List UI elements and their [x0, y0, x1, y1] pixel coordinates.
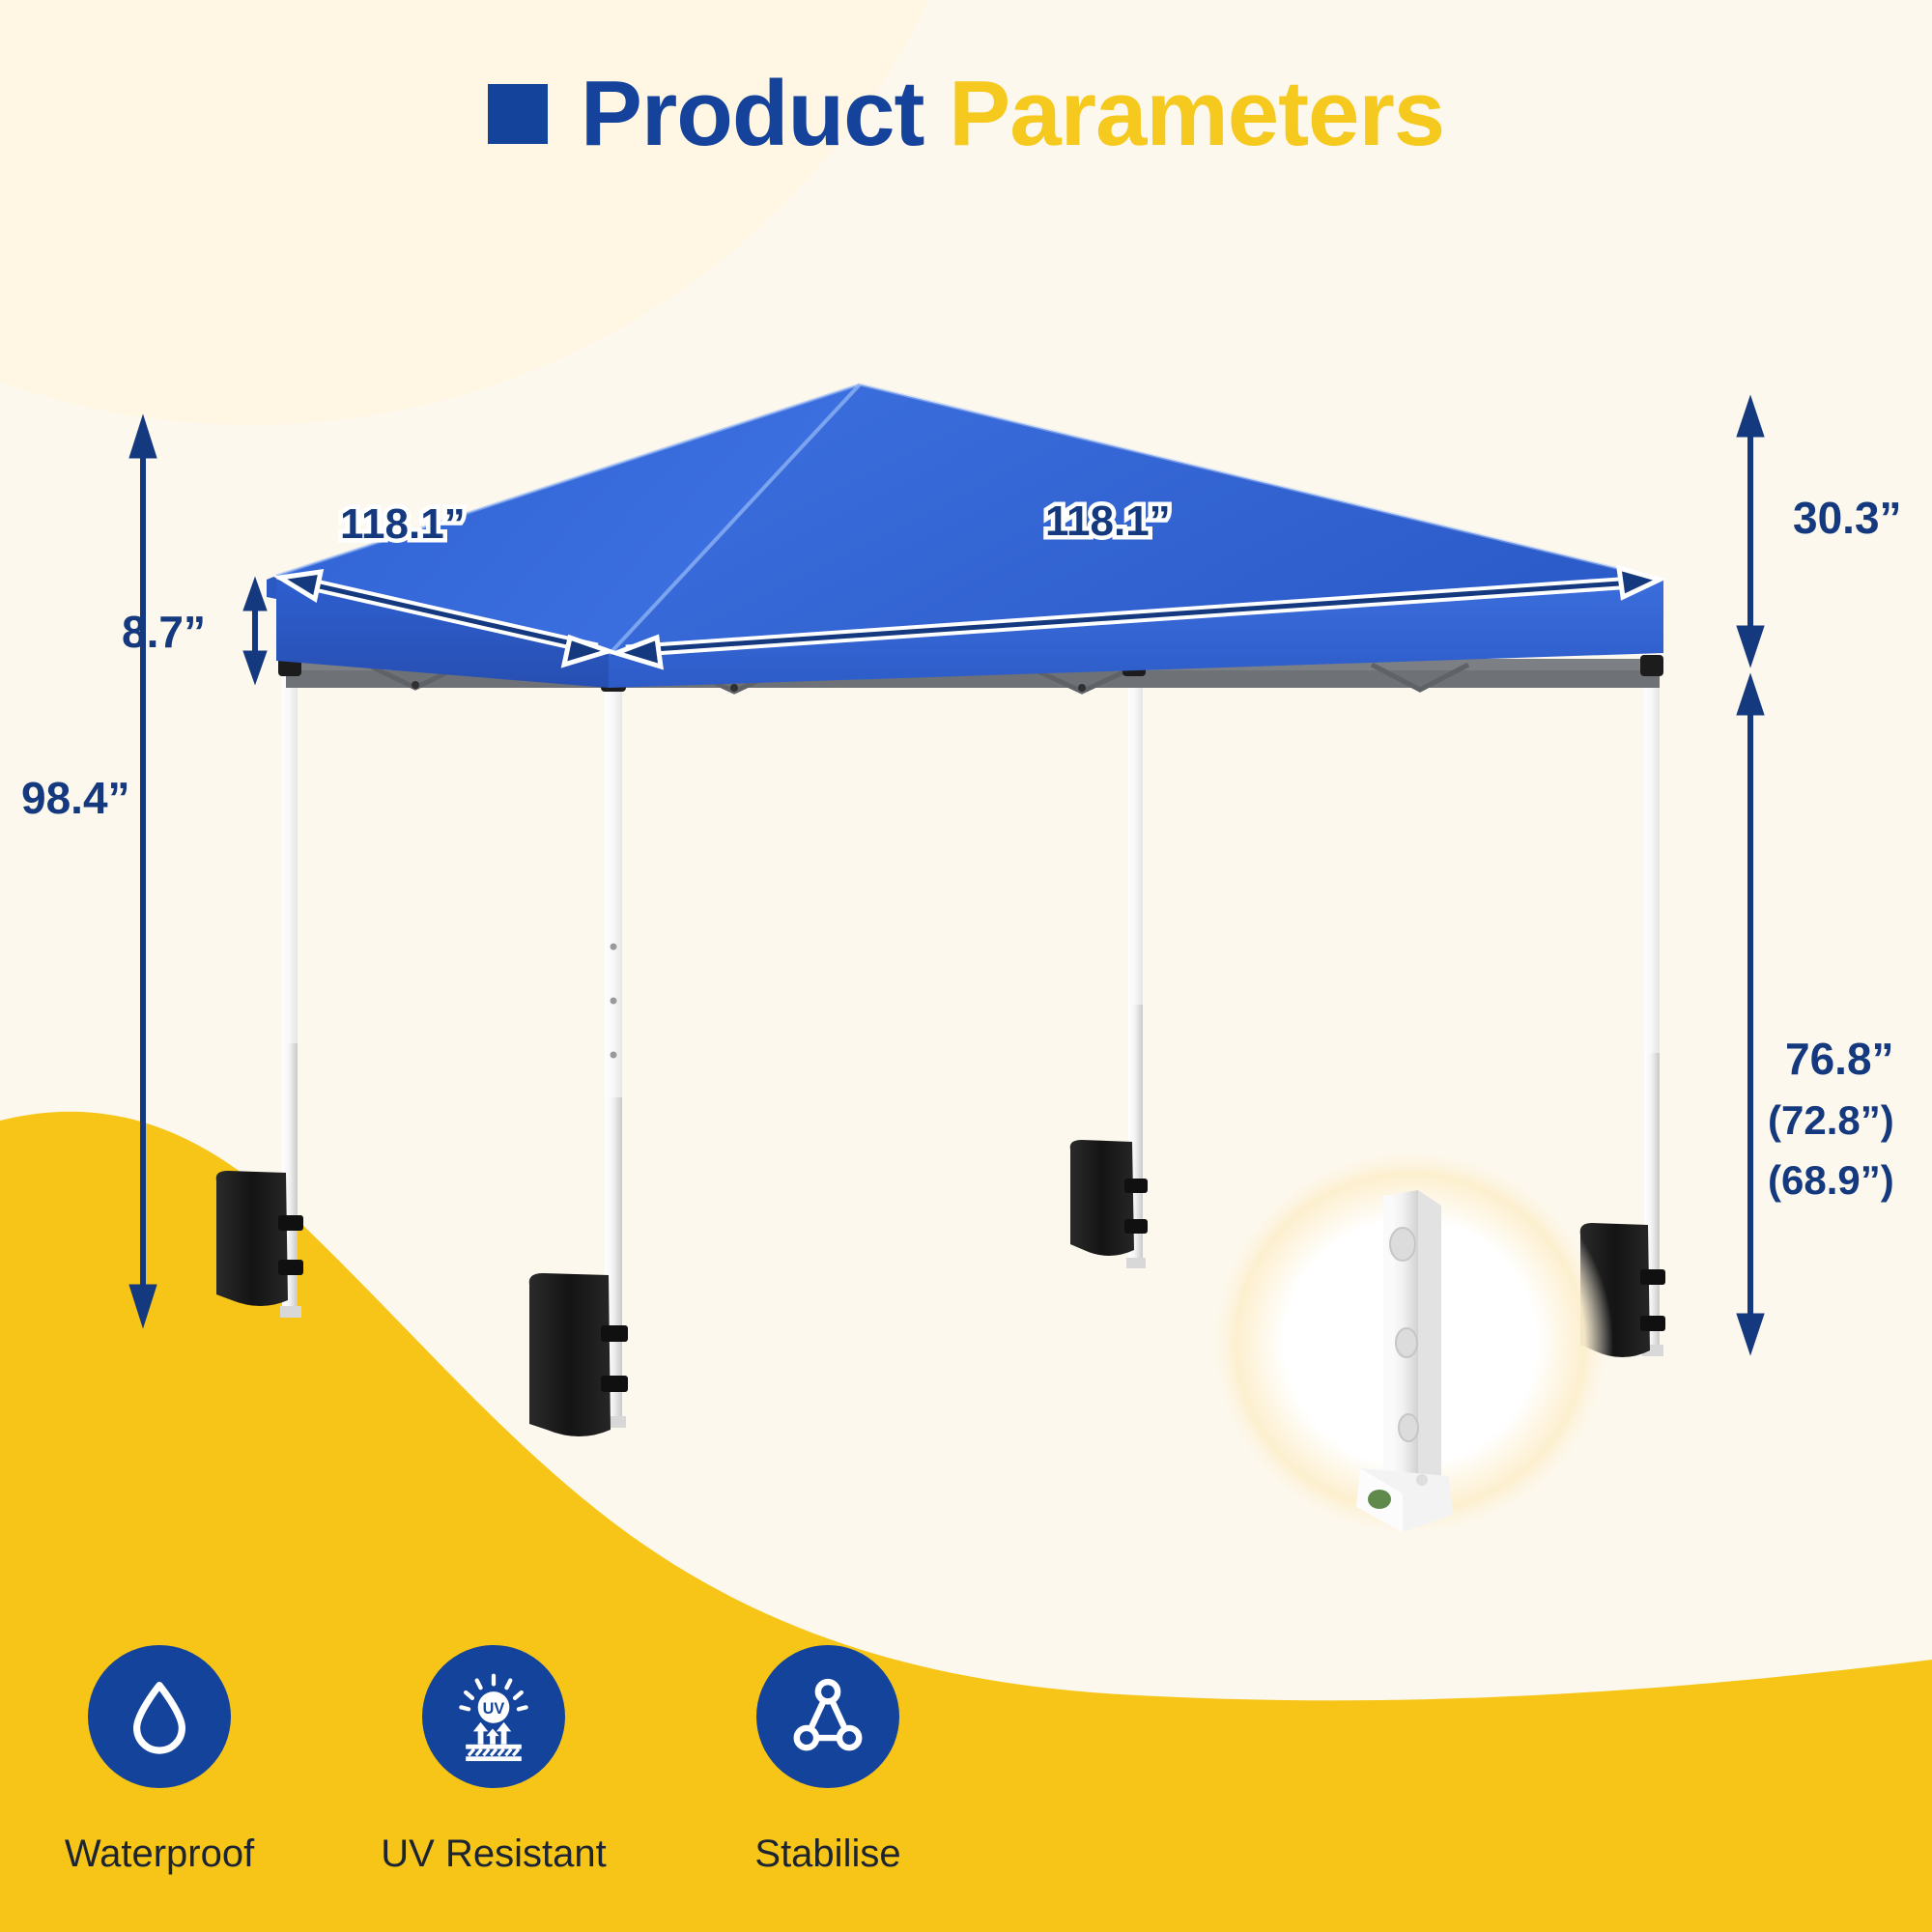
feature-label: Waterproof [65, 1833, 254, 1876]
water-drop-icon [116, 1673, 203, 1760]
dimension-label-overall-height: 98.4” [21, 771, 130, 825]
arrow-leg-height [1737, 674, 1764, 1354]
dimension-label-canopy-right: 118.1” [1045, 497, 1171, 546]
infographic-canvas: Product Parameters [0, 0, 1932, 1932]
dimension-label-leg-height-min: (68.9”) [1768, 1155, 1894, 1205]
arrow-overall-height [129, 415, 156, 1327]
svg-text:UV: UV [483, 1700, 505, 1718]
dimension-label-peak-height: 30.3” [1793, 491, 1902, 545]
uv-protection-icon: UV [447, 1670, 540, 1763]
feature-waterproof: Waterproof [58, 1645, 261, 1876]
feature-list: Waterproof UV [58, 1645, 929, 1876]
feature-label: UV Resistant [381, 1833, 606, 1876]
feature-badge: UV [422, 1645, 565, 1788]
feature-badge [88, 1645, 231, 1788]
canopy-tent-illustration [0, 0, 1932, 1932]
dimension-label-leg-height-mid: (72.8”) [1768, 1095, 1894, 1145]
dimension-label-leg-height-max: 76.8” [1785, 1032, 1894, 1086]
dimension-label-canopy-left: 118.1” [340, 500, 466, 549]
feature-uv-resistant: UV [392, 1645, 595, 1876]
dimension-label-eave-drop: 8.7” [122, 605, 206, 659]
leg-post-closeup [1207, 1146, 1613, 1540]
arrow-eave-drop [243, 578, 267, 684]
arrow-peak-height [1737, 396, 1764, 667]
feature-stabilise: Stabilise [726, 1645, 929, 1876]
feature-label: Stabilise [754, 1833, 900, 1876]
stability-triangle-icon [783, 1672, 872, 1761]
feature-badge [756, 1645, 899, 1788]
